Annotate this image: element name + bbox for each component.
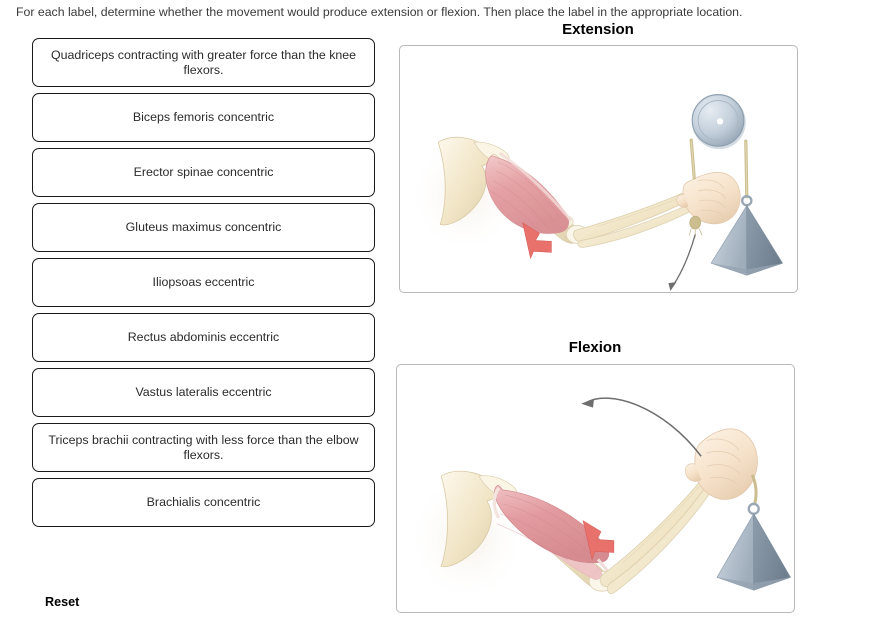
draggable-label[interactable]: Brachialis concentric [32,478,375,527]
label-text: Iliopsoas eccentric [153,275,255,290]
instruction-text: For each label, determine whether the mo… [16,4,866,20]
label-text: Quadriceps contracting with greater forc… [43,48,364,78]
draggable-label[interactable]: Biceps femoris concentric [32,93,375,142]
draggable-label[interactable]: Erector spinae concentric [32,148,375,197]
draggable-label[interactable]: Gluteus maximus concentric [32,203,375,252]
arm-flexion-illustration [397,365,794,612]
label-text: Vastus lateralis eccentric [135,385,271,400]
label-text: Triceps brachii contracting with less fo… [43,433,364,463]
draggable-label[interactable]: Vastus lateralis eccentric [32,368,375,417]
draggable-label[interactable]: Triceps brachii contracting with less fo… [32,423,375,472]
draggable-label[interactable]: Quadriceps contracting with greater forc… [32,38,375,87]
label-text: Gluteus maximus concentric [126,220,282,235]
label-text: Brachialis concentric [147,495,261,510]
extension-zone-title: Extension [398,21,798,38]
draggable-label[interactable]: Iliopsoas eccentric [32,258,375,307]
extension-drop-zone[interactable] [399,45,798,293]
label-bank: Quadriceps contracting with greater forc… [32,38,375,533]
flexion-drop-zone[interactable] [396,364,795,613]
label-text: Biceps femoris concentric [133,110,274,125]
flexion-zone-title: Flexion [395,339,795,356]
draggable-label[interactable]: Rectus abdominis eccentric [32,313,375,362]
label-text: Erector spinae concentric [134,165,274,180]
label-text: Rectus abdominis eccentric [128,330,280,345]
arm-extension-illustration [400,46,797,292]
reset-button[interactable]: Reset [45,595,79,609]
